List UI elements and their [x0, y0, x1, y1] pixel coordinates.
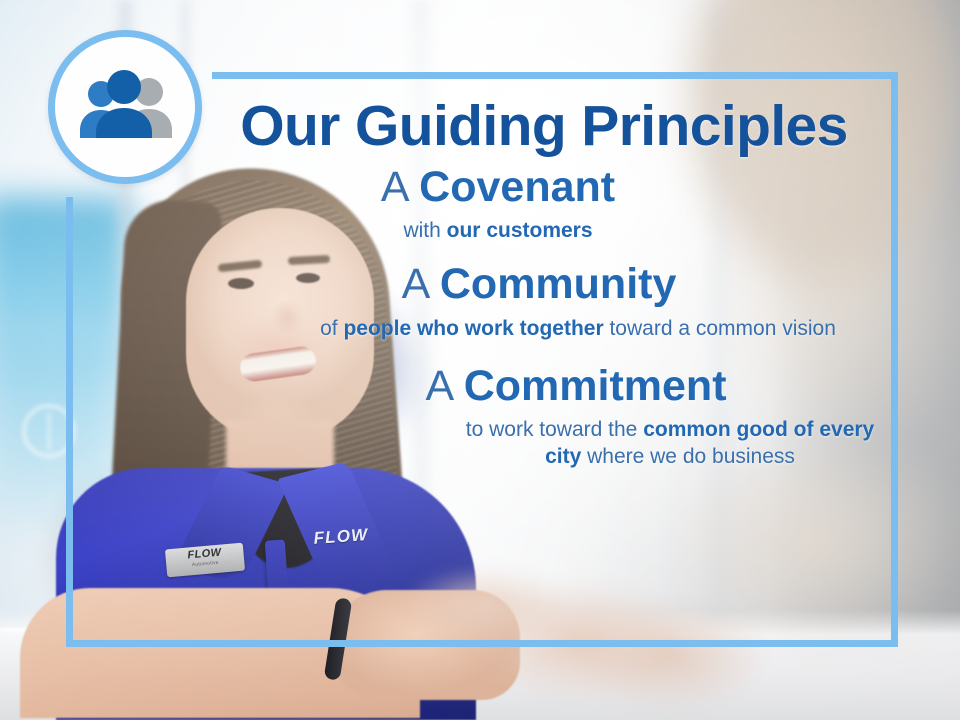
principle-article: A [402, 260, 428, 308]
principle-description-emphasis: our customers [447, 219, 593, 242]
principle-covenant: A Covenant with our customers [200, 165, 888, 244]
principle-description-normal: of [320, 317, 343, 340]
page-title: Our Guiding Principles [200, 98, 888, 155]
principle-description-normal: with [403, 219, 446, 242]
blurred-foreground-hand [470, 574, 770, 714]
principle-heading: A Covenant [200, 165, 796, 210]
principle-commitment: A Commitment to work toward the common g… [200, 364, 888, 471]
principle-heading: A Community [200, 262, 878, 307]
principle-description: of people who work together toward a com… [318, 315, 838, 342]
principle-keyword: Commitment [464, 362, 727, 410]
people-group-icon-badge [48, 30, 202, 184]
principle-description-normal-tail: where we do business [581, 445, 795, 468]
guiding-principles-poster: FLOW FLOW Automotive [0, 0, 960, 720]
principle-article: A [381, 163, 407, 211]
principle-description: to work toward the common good of every … [460, 416, 880, 471]
principle-heading: A Commitment [264, 364, 888, 409]
principle-keyword: Community [440, 260, 677, 308]
people-group-icon [71, 69, 179, 145]
principle-community: A Community of people who work together … [200, 262, 888, 341]
principle-description-emphasis: people who work together [343, 317, 603, 340]
poster-text-content: Our Guiding Principles A Covenant with o… [200, 80, 888, 471]
principle-article: A [425, 362, 451, 410]
principle-description-normal-tail: toward a common vision [604, 317, 836, 340]
principle-description: with our customers [200, 217, 796, 244]
principle-description-normal: to work toward the [466, 418, 643, 441]
principle-keyword: Covenant [419, 163, 615, 211]
